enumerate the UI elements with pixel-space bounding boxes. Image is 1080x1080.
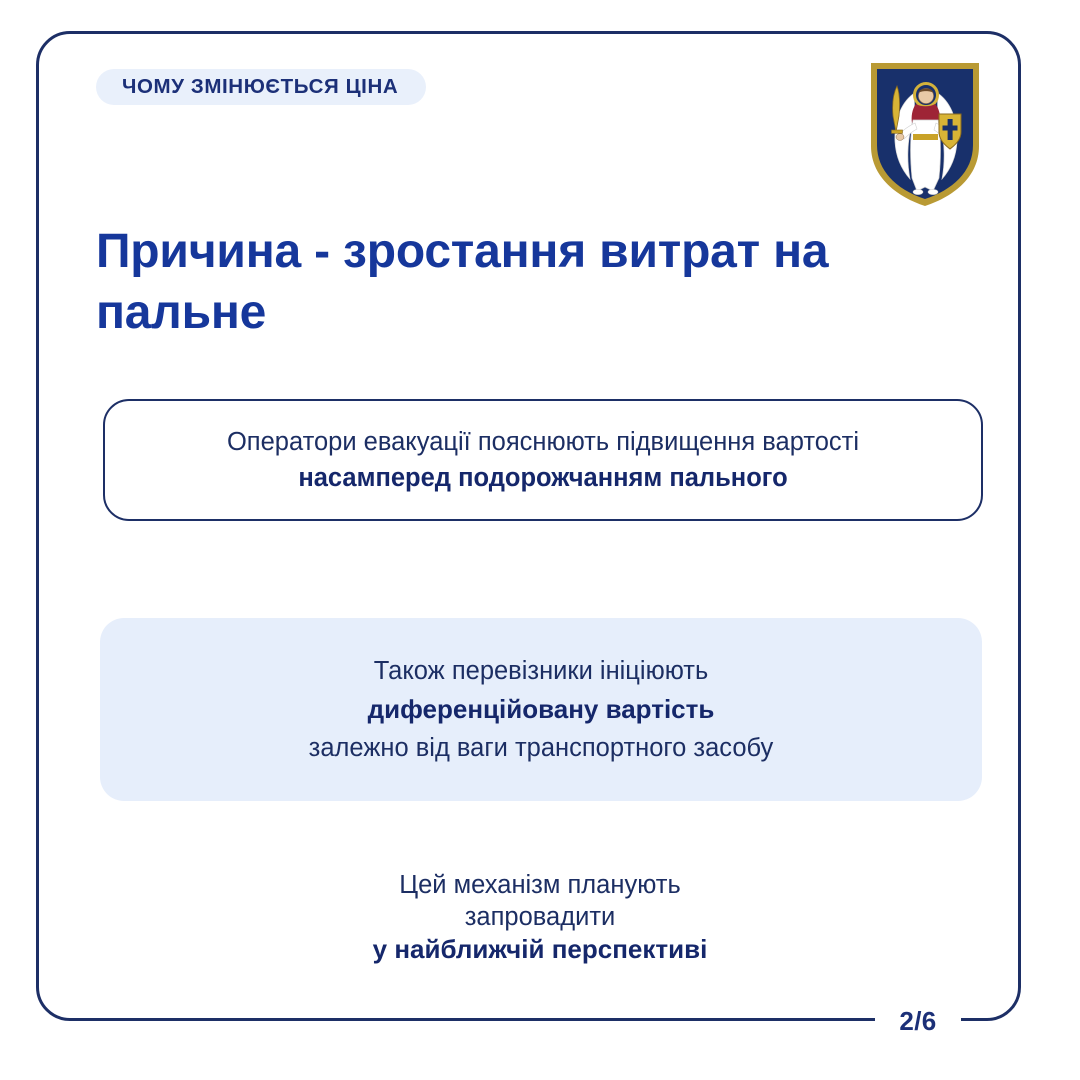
slide-root: ЧОМУ ЗМІНЮЄТЬСЯ ЦІНА: [0, 0, 1080, 1080]
kicker-badge-label: ЧОМУ ЗМІНЮЄТЬСЯ ЦІНА: [122, 77, 398, 98]
filled-box-line-1: Також перевізники ініціюють: [374, 652, 709, 690]
page-title: Причина - зростання витрат на пальне: [96, 222, 896, 344]
page-counter: 2/6: [875, 1004, 961, 1038]
closing-note-line-2: запровадити: [240, 901, 840, 933]
outlined-statement-box: Оператори евакуації пояснюють підвищення…: [103, 399, 983, 521]
outlined-box-line-1: Оператори евакуації пояснюють підвищення…: [227, 424, 859, 460]
kyiv-coat-of-arms-icon: [869, 60, 981, 208]
filled-box-line-2: диференційовану вартість: [368, 690, 715, 729]
kicker-badge: ЧОМУ ЗМІНЮЄТЬСЯ ЦІНА: [96, 69, 426, 105]
closing-note-line-1: Цей механізм планують: [240, 869, 840, 901]
closing-note-line-3: у найближчій перспективі: [240, 933, 840, 966]
outlined-box-line-2: насамперед подорожчанням пального: [298, 460, 787, 496]
filled-statement-box: Також перевізники ініціюють диференційов…: [100, 618, 982, 801]
filled-box-line-3: залежно від ваги транспортного засобу: [309, 729, 774, 767]
closing-note: Цей механізм планують запровадити у найб…: [240, 869, 840, 966]
